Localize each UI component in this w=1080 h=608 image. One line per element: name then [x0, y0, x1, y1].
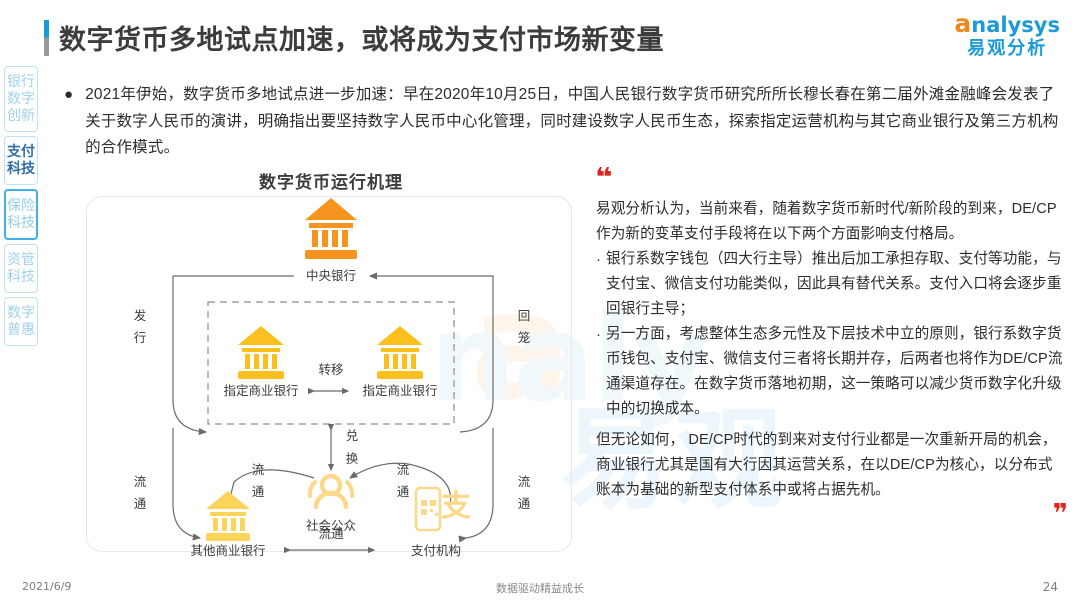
diagram-title: 数字货币运行机理 [78, 168, 584, 193]
page-title: 数字货币多地试点加速，或将成为支付市场新变量 [59, 18, 664, 57]
node-label-central-bank: 中央银行 [306, 268, 356, 283]
edge-label-circulate-bottom: 流通 [318, 527, 344, 541]
bullet-marker-1: · [596, 247, 601, 322]
commentary-panel: ❝ 易观分析认为，当前来看，随着数字货币新时代/新阶段的到来，DE/CP作为新的… [596, 170, 1066, 523]
footer: 2021/6/9 数据驱动精益成长 24 [0, 580, 1080, 600]
lead-bullet-icon: ● [64, 82, 73, 162]
sidebar-item-digital-inclusive-finance[interactable]: 数字普惠 [4, 297, 38, 346]
page-title-row: 数字货币多地试点加速，或将成为支付市场新变量 [44, 18, 664, 57]
logo-wordmark: analysys [954, 12, 1060, 37]
edge-label-circulate-right-2: 通 [397, 485, 410, 499]
edge-label-circulate-left-2: 通 [252, 485, 265, 499]
footer-page-number: 24 [1043, 580, 1058, 594]
commentary-intro: 易观分析认为，当前来看，随着数字货币新时代/新阶段的到来，DE/CP作为新的变革… [596, 197, 1066, 247]
edge-label-circulate-outer-left-1: 流 [134, 475, 147, 489]
central-bank-icon [305, 198, 357, 259]
quote-close-icon: ❞ [596, 505, 1066, 523]
footer-slogan: 数据驱动精益成长 [0, 580, 1080, 596]
edge-label-circulate-left-1: 流 [252, 463, 265, 477]
sidebar-item-asset-management-tech[interactable]: 资管科技 [4, 244, 38, 293]
bullet-text-1: 银行系数字钱包（四大行主导）推出后加工承担存取、支付等功能，与支付宝、微信支付功… [606, 247, 1066, 322]
edge-label-circulate-outer-right-2: 通 [518, 497, 531, 511]
node-label-designated-bank-right: 指定商业银行 [362, 383, 437, 398]
logo-chinese-name: 易观分析 [954, 37, 1060, 59]
public-people-icon [310, 476, 352, 507]
sidebar-item-insurance-tech[interactable]: 保险科技 [4, 189, 38, 240]
bullet-marker-2: · [596, 322, 601, 422]
logo-wordmark-rest: nalysys [971, 13, 1060, 37]
commentary-closing: 但无论如何， DE/CP时代的到来对支付行业都是一次重新开局的机会，商业银行尤其… [596, 428, 1066, 503]
sidebar-item-bank-digital-innovation[interactable]: 银行数字创新 [4, 66, 38, 132]
node-label-other-commercial-bank: 其他商业银行 [190, 543, 265, 558]
node-label-payment-institution: 支付机构 [411, 543, 461, 558]
edge-label-transfer: 转移 [318, 362, 343, 377]
edge-label-withdraw-1: 回 [518, 309, 531, 323]
diagram-svg: 中央银行 发 行 回 笼 指定商业银行 [78, 192, 584, 558]
title-accent-bar [44, 20, 49, 56]
edge-label-exchange-2: 换 [346, 452, 359, 466]
commentary-bullet-2: · 另一方面，考虑整体生态多元性及下层技术中立的原则，银行系数字货币钱包、支付宝… [596, 322, 1066, 422]
lead-paragraph-text: 2021年伊始，数字货币多地试点进一步加速：早在2020年10月25日，中国人民… [85, 82, 1064, 162]
edge-label-issue-1: 发 [134, 308, 147, 323]
brand-logo: analysys 易观分析 [954, 12, 1060, 59]
edge-label-issue-2: 行 [134, 331, 147, 345]
sidebar: 银行数字创新 支付科技 保险科技 资管科技 数字普惠 [4, 66, 40, 350]
commentary-bullet-1: · 银行系数字钱包（四大行主导）推出后加工承担存取、支付等功能，与支付宝、微信支… [596, 247, 1066, 322]
quote-open-icon: ❝ [595, 170, 610, 186]
edge-label-exchange-1: 兑 [346, 429, 359, 443]
edge-label-circulate-outer-right-1: 流 [518, 475, 531, 489]
bullet-text-2: 另一方面，考虑整体生态多元性及下层技术中立的原则，银行系数字货币钱包、支付宝、微… [606, 322, 1066, 422]
other-commercial-bank-icon [206, 491, 250, 541]
payment-institution-icon: 支 [416, 488, 471, 530]
designated-bank-left-icon [238, 326, 284, 379]
edge-label-withdraw-2: 笼 [518, 330, 531, 345]
edge-label-circulate-outer-left-2: 通 [134, 497, 147, 511]
edge-label-circulate-right-1: 流 [397, 463, 410, 477]
node-label-designated-bank-left: 指定商业银行 [223, 383, 298, 398]
svg-text:支: 支 [441, 490, 471, 523]
diagram: 数字货币运行机理 中央银行 发 行 回 笼 [78, 168, 584, 564]
logo-letter-a: a [954, 9, 971, 38]
sidebar-item-payment-tech[interactable]: 支付科技 [4, 136, 38, 185]
designated-bank-right-icon [377, 326, 423, 379]
lead-paragraph: ● 2021年伊始，数字货币多地试点进一步加速：早在2020年10月25日，中国… [64, 82, 1064, 162]
